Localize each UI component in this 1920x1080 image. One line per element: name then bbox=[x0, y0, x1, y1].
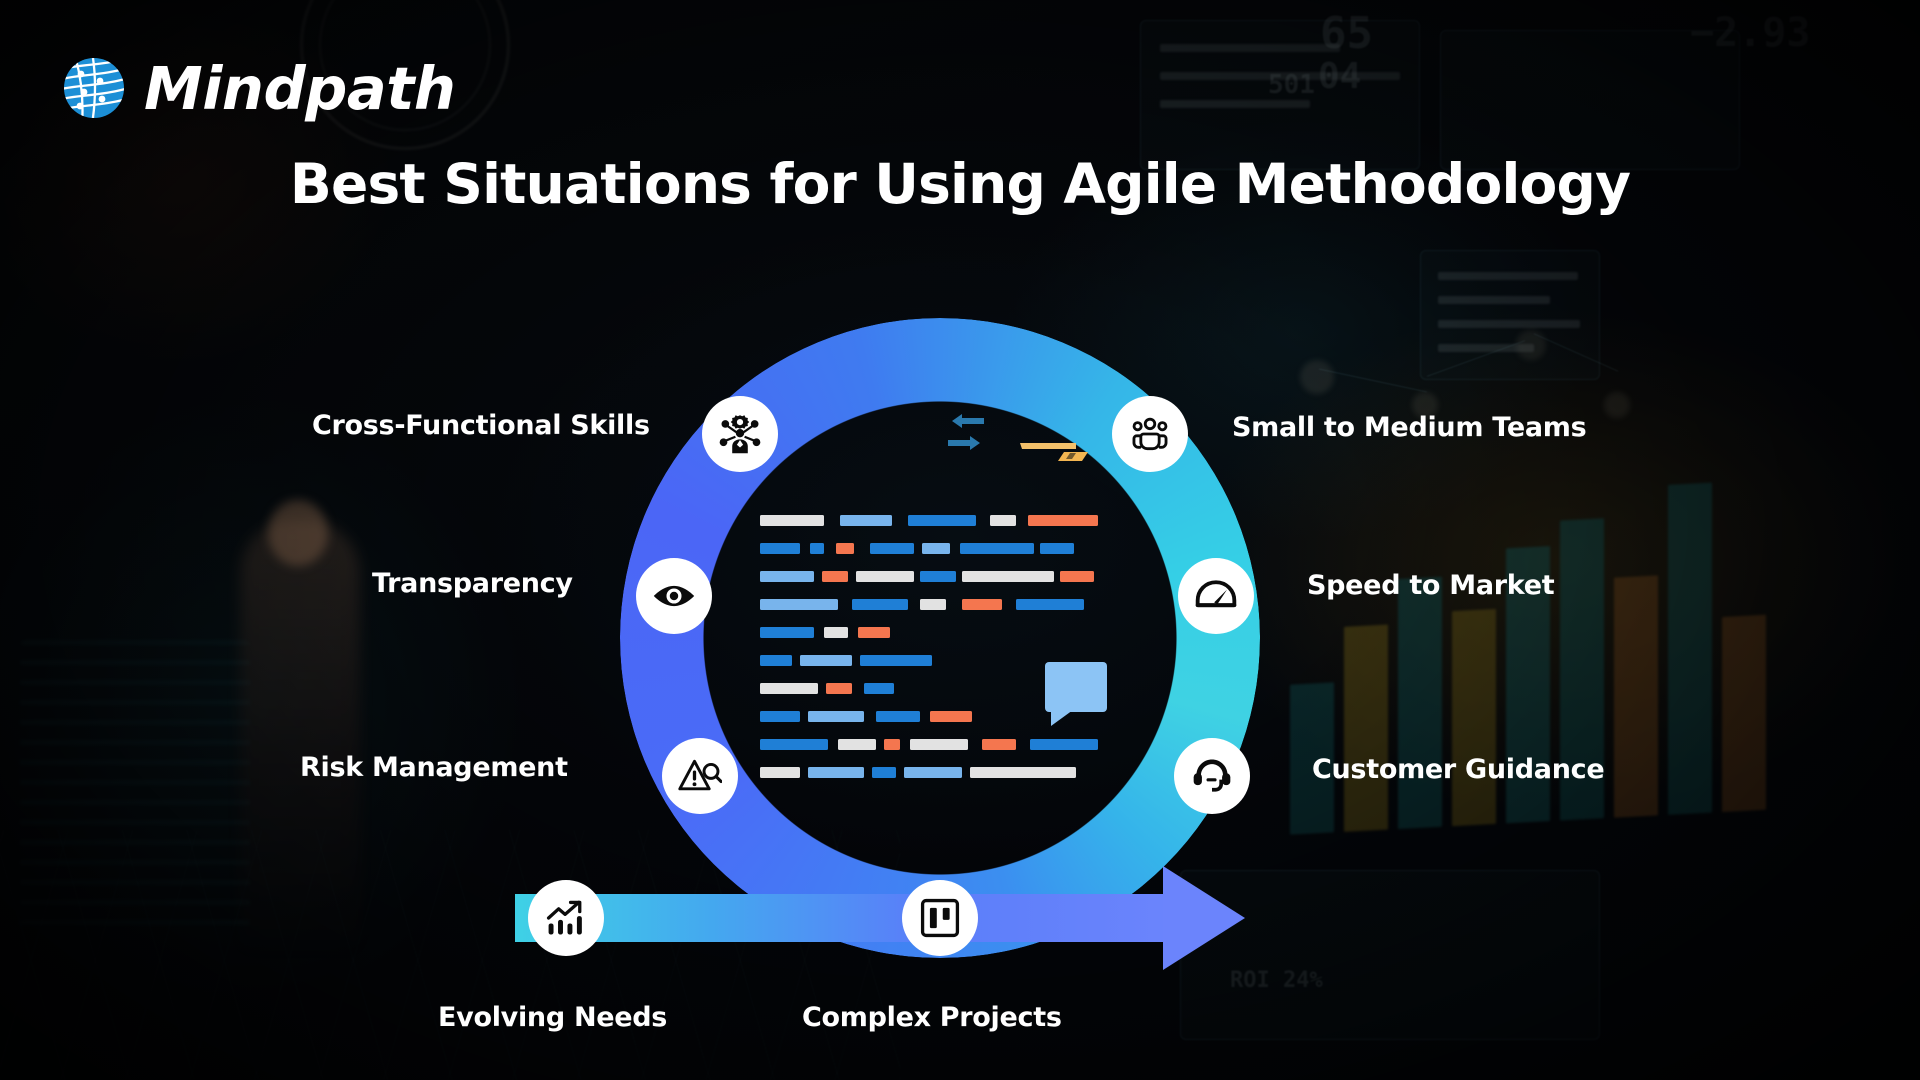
code-segment bbox=[840, 515, 892, 526]
code-gap bbox=[818, 683, 826, 694]
code-line-row bbox=[760, 543, 1074, 554]
code-segment bbox=[920, 599, 946, 610]
code-segment bbox=[1028, 515, 1098, 526]
code-gap bbox=[946, 599, 962, 610]
code-segment bbox=[808, 711, 864, 722]
code-segment bbox=[920, 571, 956, 582]
code-segment bbox=[910, 739, 968, 750]
code-segment bbox=[908, 515, 976, 526]
code-segment bbox=[760, 711, 800, 722]
code-segment bbox=[760, 599, 838, 610]
code-segment bbox=[838, 739, 876, 750]
code-segment bbox=[1040, 543, 1074, 554]
code-line-row bbox=[760, 627, 890, 638]
code-segment bbox=[904, 767, 962, 778]
code-segment bbox=[760, 543, 800, 554]
code-gap bbox=[920, 711, 930, 722]
code-gap bbox=[908, 599, 920, 610]
code-segment bbox=[808, 767, 864, 778]
warning-magnifier-icon bbox=[678, 754, 722, 798]
network-globe-icon bbox=[62, 56, 126, 120]
label-customer-guidance: Customer Guidance bbox=[1312, 754, 1604, 785]
code-gap bbox=[814, 627, 824, 638]
code-segment bbox=[962, 571, 1054, 582]
code-gap bbox=[864, 711, 876, 722]
code-gap bbox=[800, 543, 810, 554]
group-users-icon bbox=[1128, 412, 1172, 456]
code-gap bbox=[950, 543, 960, 554]
code-segment bbox=[872, 767, 896, 778]
code-segment bbox=[760, 571, 814, 582]
code-segment bbox=[960, 543, 1034, 554]
code-gap bbox=[864, 767, 872, 778]
angled-ruler-icon bbox=[1020, 440, 1092, 464]
code-line-row bbox=[760, 655, 932, 666]
code-segment bbox=[876, 711, 920, 722]
label-evolving-needs: Evolving Needs bbox=[438, 1002, 667, 1033]
code-segment bbox=[860, 655, 932, 666]
code-gap bbox=[824, 543, 836, 554]
code-segment bbox=[970, 767, 1076, 778]
code-segment bbox=[858, 627, 890, 638]
code-line-row bbox=[760, 599, 1084, 610]
code-segment bbox=[856, 571, 914, 582]
code-gap bbox=[828, 739, 838, 750]
code-segment bbox=[884, 739, 900, 750]
badge-complex-projects[interactable] bbox=[902, 880, 978, 956]
code-line-row bbox=[760, 683, 894, 694]
page-title: Best Situations for Using Agile Methodol… bbox=[0, 152, 1920, 216]
code-line-row bbox=[760, 739, 1098, 750]
kanban-board-icon bbox=[918, 896, 962, 940]
code-gap bbox=[896, 767, 904, 778]
code-segment bbox=[760, 739, 828, 750]
code-gap bbox=[876, 739, 884, 750]
growth-chart-arrow-icon bbox=[544, 896, 588, 940]
badge-evolving-needs[interactable] bbox=[528, 880, 604, 956]
code-gap bbox=[800, 711, 808, 722]
code-gap bbox=[1016, 739, 1030, 750]
code-line-row bbox=[760, 711, 972, 722]
arrow-shaft bbox=[515, 894, 1170, 942]
code-segment bbox=[1060, 571, 1094, 582]
label-cross-functional-skills: Cross-Functional Skills bbox=[312, 410, 650, 441]
badge-small-to-medium-teams[interactable] bbox=[1112, 396, 1188, 472]
infographic-canvas: 65 04 −2.93 501 ROI 24% bbox=[0, 0, 1920, 1080]
code-segment bbox=[826, 683, 852, 694]
label-complex-projects: Complex Projects bbox=[802, 1002, 1062, 1033]
code-line-row bbox=[760, 515, 1098, 526]
code-gap bbox=[792, 655, 800, 666]
label-speed-to-market: Speed to Market bbox=[1307, 570, 1554, 601]
speedometer-icon bbox=[1194, 574, 1238, 618]
code-segment bbox=[836, 543, 854, 554]
code-segment bbox=[852, 599, 908, 610]
bidirectional-arrows-icon bbox=[940, 410, 992, 462]
code-gap bbox=[914, 543, 922, 554]
code-segment bbox=[864, 683, 894, 694]
code-gap bbox=[848, 627, 858, 638]
code-segment bbox=[760, 767, 800, 778]
code-segment bbox=[760, 683, 818, 694]
code-line-row bbox=[760, 571, 1094, 582]
code-gap bbox=[814, 571, 822, 582]
brand-logo[interactable]: Mindpath bbox=[62, 56, 455, 120]
eye-icon bbox=[652, 574, 696, 618]
code-gap bbox=[852, 655, 860, 666]
code-segment bbox=[824, 627, 848, 638]
arrow-head bbox=[1163, 866, 1245, 970]
code-gap bbox=[900, 739, 910, 750]
code-segment bbox=[822, 571, 848, 582]
code-segment bbox=[982, 739, 1016, 750]
code-gap bbox=[824, 515, 840, 526]
code-segment bbox=[760, 515, 824, 526]
label-small-to-medium-teams: Small to Medium Teams bbox=[1232, 412, 1586, 443]
speech-bubble-icon bbox=[1045, 662, 1107, 712]
code-gap bbox=[838, 599, 852, 610]
code-segment bbox=[922, 543, 950, 554]
code-segment bbox=[760, 627, 814, 638]
code-gap bbox=[968, 739, 982, 750]
brand-name: Mindpath bbox=[144, 59, 455, 118]
code-gap bbox=[892, 515, 908, 526]
label-transparency: Transparency bbox=[372, 568, 573, 599]
code-segment bbox=[810, 543, 824, 554]
code-segment bbox=[800, 655, 852, 666]
code-gap bbox=[848, 571, 856, 582]
code-gap bbox=[852, 683, 864, 694]
code-gap bbox=[1002, 599, 1016, 610]
badge-risk-management[interactable] bbox=[662, 738, 738, 814]
code-gap bbox=[800, 767, 808, 778]
code-gap bbox=[976, 515, 990, 526]
code-gap bbox=[962, 767, 970, 778]
badge-speed-to-market[interactable] bbox=[1178, 558, 1254, 634]
code-segment bbox=[870, 543, 914, 554]
badge-customer-guidance[interactable] bbox=[1174, 738, 1250, 814]
code-segment bbox=[990, 515, 1016, 526]
label-risk-management: Risk Management bbox=[300, 752, 568, 783]
badge-transparency[interactable] bbox=[636, 558, 712, 634]
code-segment bbox=[962, 599, 1002, 610]
code-segment bbox=[1016, 599, 1084, 610]
code-gap bbox=[854, 543, 870, 554]
code-segment bbox=[930, 711, 972, 722]
code-gap bbox=[1016, 515, 1028, 526]
team-gear-network-icon bbox=[718, 412, 762, 456]
headset-support-icon bbox=[1190, 754, 1234, 798]
badge-cross-functional-skills[interactable] bbox=[702, 396, 778, 472]
code-segment bbox=[1030, 739, 1098, 750]
timeline-arrow bbox=[515, 880, 1225, 956]
code-segment bbox=[760, 655, 792, 666]
code-line-row bbox=[760, 767, 1076, 778]
